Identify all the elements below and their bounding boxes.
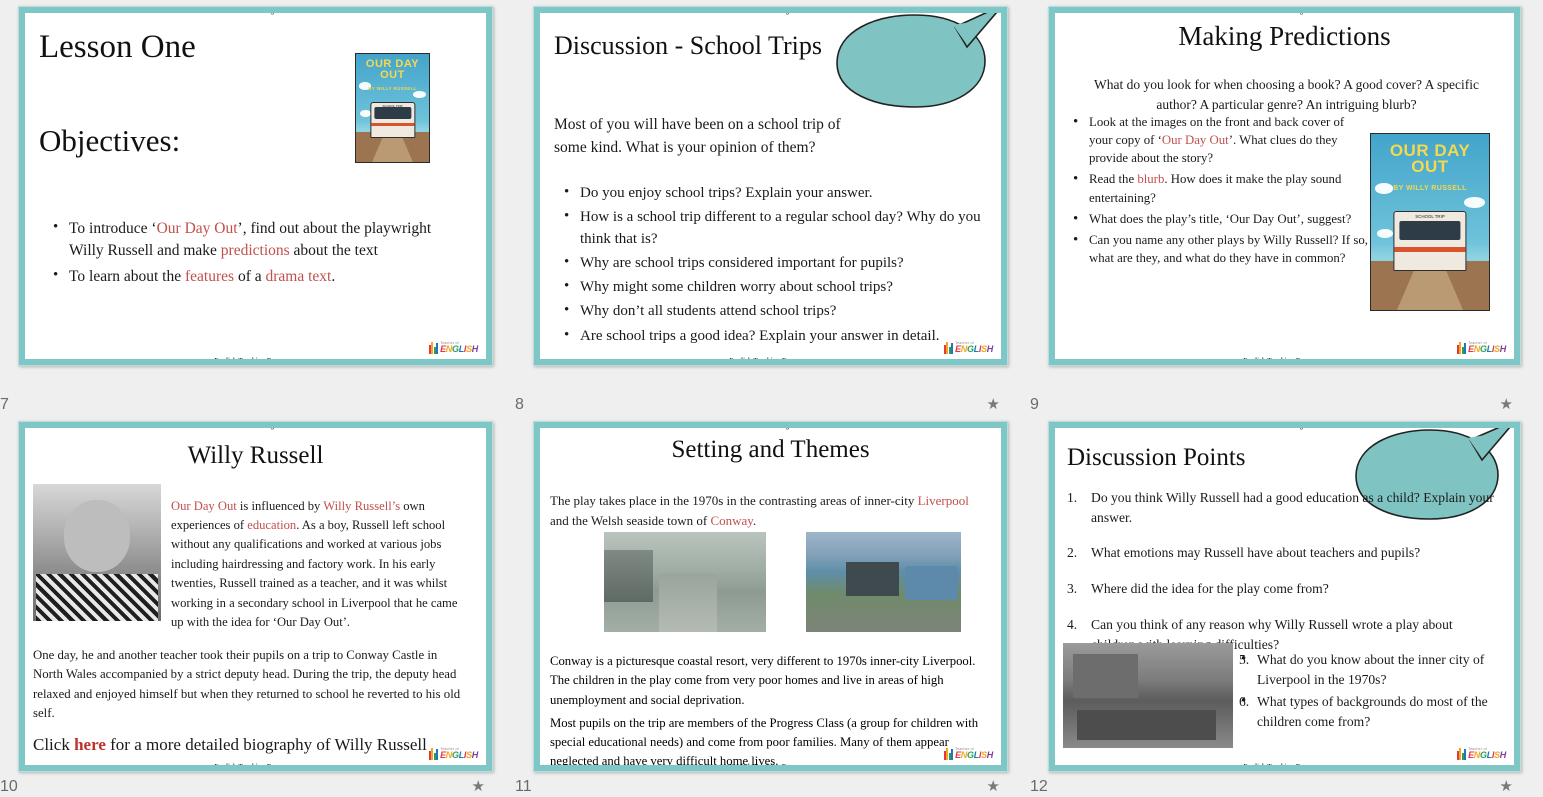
discussion-questions-list: Do you enjoy school trips? Explain your … (560, 183, 987, 350)
slide-cell-10[interactable]: www.Teacher-of-English.com English Teach… (0, 415, 515, 797)
rich-text: To introduce ‘Our Day Out’, find out abo… (69, 220, 431, 259)
page-title: Discussion - School Trips (554, 31, 822, 61)
book-cover-image: OUR DAY OUT BY WILLY RUSSELL SCHOOL TRIP (355, 53, 430, 163)
slide-cell-11[interactable]: www.Teacher-of-English.com English Teach… (515, 415, 1030, 797)
slide-8-canvas: www.Teacher-of-English.com English Teach… (540, 13, 1001, 359)
plain-text: Can you name any other plays by Willy Ru… (1089, 233, 1368, 265)
star-icon: ★ (1500, 780, 1513, 795)
bus-window (374, 107, 411, 119)
highlight-text: Conway (710, 513, 753, 528)
slide-11[interactable]: www.Teacher-of-English.com English Teach… (533, 421, 1008, 772)
list-item: To learn about the features of a drama t… (49, 266, 466, 288)
conway-castle-image (806, 532, 961, 632)
slide-header-url: www.Teacher-of-English.com (25, 13, 486, 15)
list-item-number: 5. (1239, 650, 1249, 670)
plain-text: Click (33, 735, 74, 754)
slide-grid: www.Teacher-of-English.com English Teach… (0, 0, 1543, 797)
slide-header-url: www.Teacher-of-English.com (1055, 13, 1514, 15)
biography-paragraph-2: One day, he and another teacher took the… (33, 646, 470, 724)
list-item: Where did the idea for the play come fro… (1065, 579, 1500, 599)
highlight-text: Our Day Out (171, 499, 237, 513)
bus-destination: SCHOOL TRIP (1403, 214, 1457, 220)
list-item: 6. What types of backgrounds do most of … (1237, 692, 1500, 731)
list-item: Do you enjoy school trips? Explain your … (560, 183, 987, 204)
list-item: What emotions may Russell have about tea… (1065, 543, 1500, 563)
highlight-text: Our Day Out (1162, 133, 1229, 147)
bus-stripe (371, 123, 414, 126)
page-title: Setting and Themes (540, 436, 1001, 464)
list-item: How is a school trip different to a regu… (560, 207, 987, 250)
cloud-icon (1377, 229, 1394, 238)
plain-text: and the Welsh seaside town of (550, 513, 710, 528)
logo-main: ENGLISH (440, 751, 478, 759)
plain-text: about the text (290, 242, 378, 259)
bus-stripe (1394, 247, 1465, 252)
slide-cell-7[interactable]: www.Teacher-of-English.com English Teach… (0, 0, 515, 415)
setting-images (540, 532, 1001, 636)
brand-logo: Teacher of ENGLISH (942, 746, 995, 761)
cover-author: BY WILLY RUSSELL (356, 86, 429, 91)
star-icon: ★ (987, 780, 1000, 795)
plain-text: To introduce ‘ (69, 220, 157, 237)
logo-main: ENGLISH (955, 751, 993, 759)
highlight-text: predictions (221, 242, 290, 259)
slide-number: 9 (1030, 396, 1039, 414)
setting-paragraph-1: The play takes place in the 1970s in the… (550, 491, 987, 531)
logo-main: ENGLISH (1468, 751, 1506, 759)
plain-text: . (331, 268, 335, 285)
plain-text: . As a boy, Russell left school without … (171, 518, 457, 629)
cover-title: OUR DAY OUT (356, 59, 429, 80)
slide-footer-text: English Teaching Resources (25, 763, 486, 765)
slide-footer-text: English Teaching Resources (25, 357, 486, 359)
list-item: To introduce ‘Our Day Out’, find out abo… (49, 218, 466, 263)
star-icon: ★ (472, 780, 485, 795)
rich-text: Look at the images on the front and back… (1089, 115, 1344, 165)
bus-illustration: SCHOOL TRIP (370, 102, 415, 139)
slide-number: 10 (0, 778, 18, 796)
rich-text: Click here for a more detailed biography… (33, 735, 431, 754)
biography-link[interactable]: here (74, 735, 106, 754)
plain-text: The play takes place in the 1970s in the… (550, 493, 918, 508)
intro-text: Most of you will have been on a school t… (554, 113, 874, 160)
list-item: Why are school trips considered importan… (560, 253, 987, 274)
brand-logo: Teacher of ENGLISH (427, 746, 480, 761)
list-item-number: 6. (1239, 692, 1249, 712)
biography-paragraph-1: Our Day Out is influenced by Willy Russe… (171, 497, 468, 633)
logo-main: ENGLISH (955, 345, 993, 353)
highlight-text: Liverpool (918, 493, 969, 508)
book-icon (429, 341, 438, 354)
list-item: Look at the images on the front and back… (1069, 113, 1369, 167)
willy-russell-portrait-image (33, 484, 161, 621)
objectives-list: To introduce ‘Our Day Out’, find out abo… (49, 218, 466, 291)
rich-text: Can you name any other plays by Willy Ru… (1089, 233, 1368, 265)
slide-cell-9[interactable]: www.Teacher-of-English.com English Teach… (1030, 0, 1543, 415)
list-item: Why don’t all students attend school tri… (560, 301, 987, 322)
slide-header-url: www.Teacher-of-English.com (25, 428, 486, 430)
slide-number: 12 (1030, 778, 1048, 796)
slide-cell-8[interactable]: www.Teacher-of-English.com English Teach… (515, 0, 1030, 415)
intro-text: What do you look for when choosing a boo… (1081, 75, 1492, 116)
discussion-points-list-continued: 5. What do you know about the inner city… (1237, 650, 1500, 735)
page-title: Willy Russell (25, 442, 486, 470)
slide-11-canvas: www.Teacher-of-English.com English Teach… (540, 428, 1001, 765)
list-item-label: What types of backgrounds do most of the… (1257, 694, 1488, 729)
slide-footer-text: English Teaching Resources (1055, 763, 1514, 765)
slide-9-canvas: www.Teacher-of-English.com English Teach… (1055, 13, 1514, 359)
list-item: Can you name any other plays by Willy Ru… (1069, 231, 1369, 267)
star-icon: ★ (1500, 398, 1513, 413)
list-item: Are school trips a good idea? Explain yo… (560, 326, 987, 347)
rich-text: What does the play’s title, ‘Our Day Out… (1089, 212, 1351, 226)
bus-illustration: SCHOOL TRIP (1393, 211, 1466, 271)
list-item: What does the play’s title, ‘Our Day Out… (1069, 210, 1369, 228)
highlight-text: Willy Russell’s (323, 499, 400, 513)
rich-text: Read the blurb. How does it make the pla… (1089, 172, 1341, 204)
slide-12-canvas: www.Teacher-of-English.com English Teach… (1055, 428, 1514, 765)
setting-paragraph-3: Most pupils on the trip are members of t… (550, 714, 989, 765)
slide-7[interactable]: www.Teacher-of-English.com English Teach… (18, 6, 493, 366)
highlight-text: blurb (1137, 172, 1164, 186)
brand-logo: Teacher of ENGLISH (1455, 746, 1508, 761)
plain-text: . (753, 513, 756, 528)
objectives-heading: Objectives: (39, 123, 180, 159)
setting-paragraphs-bottom: Conway is a picturesque coastal resort, … (550, 652, 989, 765)
logo-main: ENGLISH (1468, 345, 1506, 353)
slide-footer-text: English Teaching Resources (540, 357, 1001, 359)
list-item: Read the blurb. How does it make the pla… (1069, 170, 1369, 206)
logo-main: ENGLISH (440, 345, 478, 353)
book-icon (1457, 747, 1466, 760)
page-title: Lesson One (39, 29, 196, 66)
page-title: Making Predictions (1055, 21, 1514, 52)
list-item: Do you think Willy Russell had a good ed… (1065, 488, 1500, 527)
plain-text: Read the (1089, 172, 1137, 186)
highlight-text: features (185, 268, 234, 285)
book-icon (1457, 341, 1466, 354)
cover-title: OUR DAY OUT (1371, 143, 1489, 175)
bus-destination: SCHOOL TRIP (376, 104, 409, 107)
brand-logo: Teacher of ENGLISH (427, 340, 480, 355)
brand-logo: Teacher of ENGLISH (1455, 340, 1508, 355)
highlight-text: drama text (265, 268, 331, 285)
rich-text: To learn about the features of a drama t… (69, 268, 335, 285)
slide-8[interactable]: www.Teacher-of-English.com English Teach… (533, 6, 1008, 366)
rich-text: Our Day Out is influenced by Willy Russe… (171, 499, 457, 629)
slide-footer-text: English Teaching Resources (1055, 357, 1514, 359)
slide-12[interactable]: www.Teacher-of-English.com English Teach… (1048, 421, 1521, 772)
plain-text: To learn about the (69, 268, 185, 285)
liverpool-street-image (604, 532, 766, 632)
book-icon (429, 747, 438, 760)
slide-number: 11 (515, 778, 532, 796)
book-cover-image: OUR DAY OUT BY WILLY RUSSELL SCHOOL TRIP (1370, 133, 1490, 311)
brand-logo: Teacher of ENGLISH (942, 340, 995, 355)
list-item: 5. What do you know about the inner city… (1237, 650, 1500, 689)
slide-number: 8 (515, 396, 524, 414)
children-playing-image (1063, 643, 1233, 748)
list-item: Why might some children worry about scho… (560, 277, 987, 298)
slide-header-url: www.Teacher-of-English.com (540, 428, 1001, 430)
list-item-label: What do you know about the inner city of… (1257, 652, 1484, 687)
slide-10-canvas: www.Teacher-of-English.com English Teach… (25, 428, 486, 765)
setting-paragraph-2: Conway is a picturesque coastal resort, … (550, 652, 989, 710)
bus-window (1399, 221, 1460, 241)
star-icon: ★ (987, 398, 1000, 413)
plain-text: What does the play’s title, ‘Our Day Out… (1089, 212, 1351, 226)
cover-author: BY WILLY RUSSELL (1371, 185, 1489, 192)
slide-number: 7 (0, 396, 9, 414)
plain-text: is influenced by (237, 499, 324, 513)
slide-7-canvas: www.Teacher-of-English.com English Teach… (25, 13, 486, 359)
rich-text: The play takes place in the 1970s in the… (550, 493, 969, 528)
biography-link-line[interactable]: Click here for a more detailed biography… (33, 735, 470, 755)
plain-text: of a (234, 268, 265, 285)
slide-cell-12[interactable]: www.Teacher-of-English.com English Teach… (1030, 415, 1543, 797)
highlight-text: education (247, 518, 296, 532)
slide-10[interactable]: www.Teacher-of-English.com English Teach… (18, 421, 493, 772)
book-icon (944, 747, 953, 760)
slide-9[interactable]: www.Teacher-of-English.com English Teach… (1048, 6, 1521, 366)
prediction-questions-list: Look at the images on the front and back… (1069, 113, 1369, 270)
plain-text: for a more detailed biography of Willy R… (106, 735, 431, 754)
book-icon (944, 341, 953, 354)
highlight-text: Our Day Out (157, 220, 238, 237)
page-title: Discussion Points (1067, 444, 1246, 472)
